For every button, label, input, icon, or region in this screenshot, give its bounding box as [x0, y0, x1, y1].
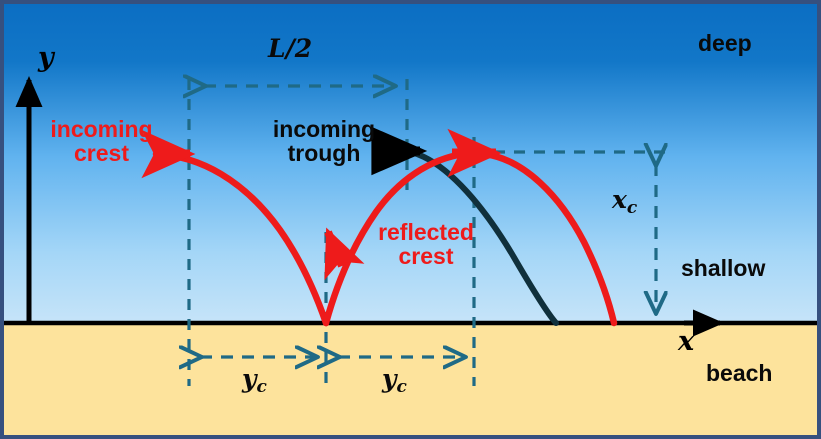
wave-reflection-figure: incoming crest incoming trough reflected…: [0, 0, 821, 439]
xc-label: xc: [612, 187, 637, 218]
y-axis-label: y: [38, 44, 54, 72]
incoming-trough-label-line2: trough: [254, 141, 394, 165]
shallow-label: shallow: [681, 256, 765, 280]
xc-var: x: [612, 185, 627, 214]
reflected-crest-label-line2: crest: [356, 244, 496, 268]
beach-label: beach: [706, 361, 772, 385]
incoming-crest-label-line1: incoming: [34, 117, 169, 141]
half-wavelength-label: L/2: [268, 36, 312, 62]
yc-right-sub: c: [397, 377, 407, 397]
incoming-trough-label: incoming trough: [254, 117, 394, 165]
incoming-crest-label: incoming crest: [34, 117, 169, 165]
yc-left-sub: c: [257, 377, 267, 397]
reflected-crest-label-line1: reflected: [356, 220, 496, 244]
incoming-trough-label-line1: incoming: [254, 117, 394, 141]
incoming-crest-label-line2: crest: [34, 141, 169, 165]
xc-sub: c: [627, 198, 637, 218]
half-wavelength-text: L/2: [268, 34, 312, 63]
yc-left-var: y: [242, 364, 257, 393]
x-axis-label: x: [678, 328, 694, 356]
deep-label: deep: [698, 31, 752, 55]
reflected-crest-upward-arrow: [328, 232, 342, 266]
reflected-crest-label: reflected crest: [356, 220, 496, 268]
figure-canvas: incoming crest incoming trough reflected…: [4, 4, 821, 439]
yc-right-var: y: [382, 364, 397, 393]
yc-left-label: yc: [242, 366, 267, 397]
yc-right-label: yc: [382, 366, 407, 397]
